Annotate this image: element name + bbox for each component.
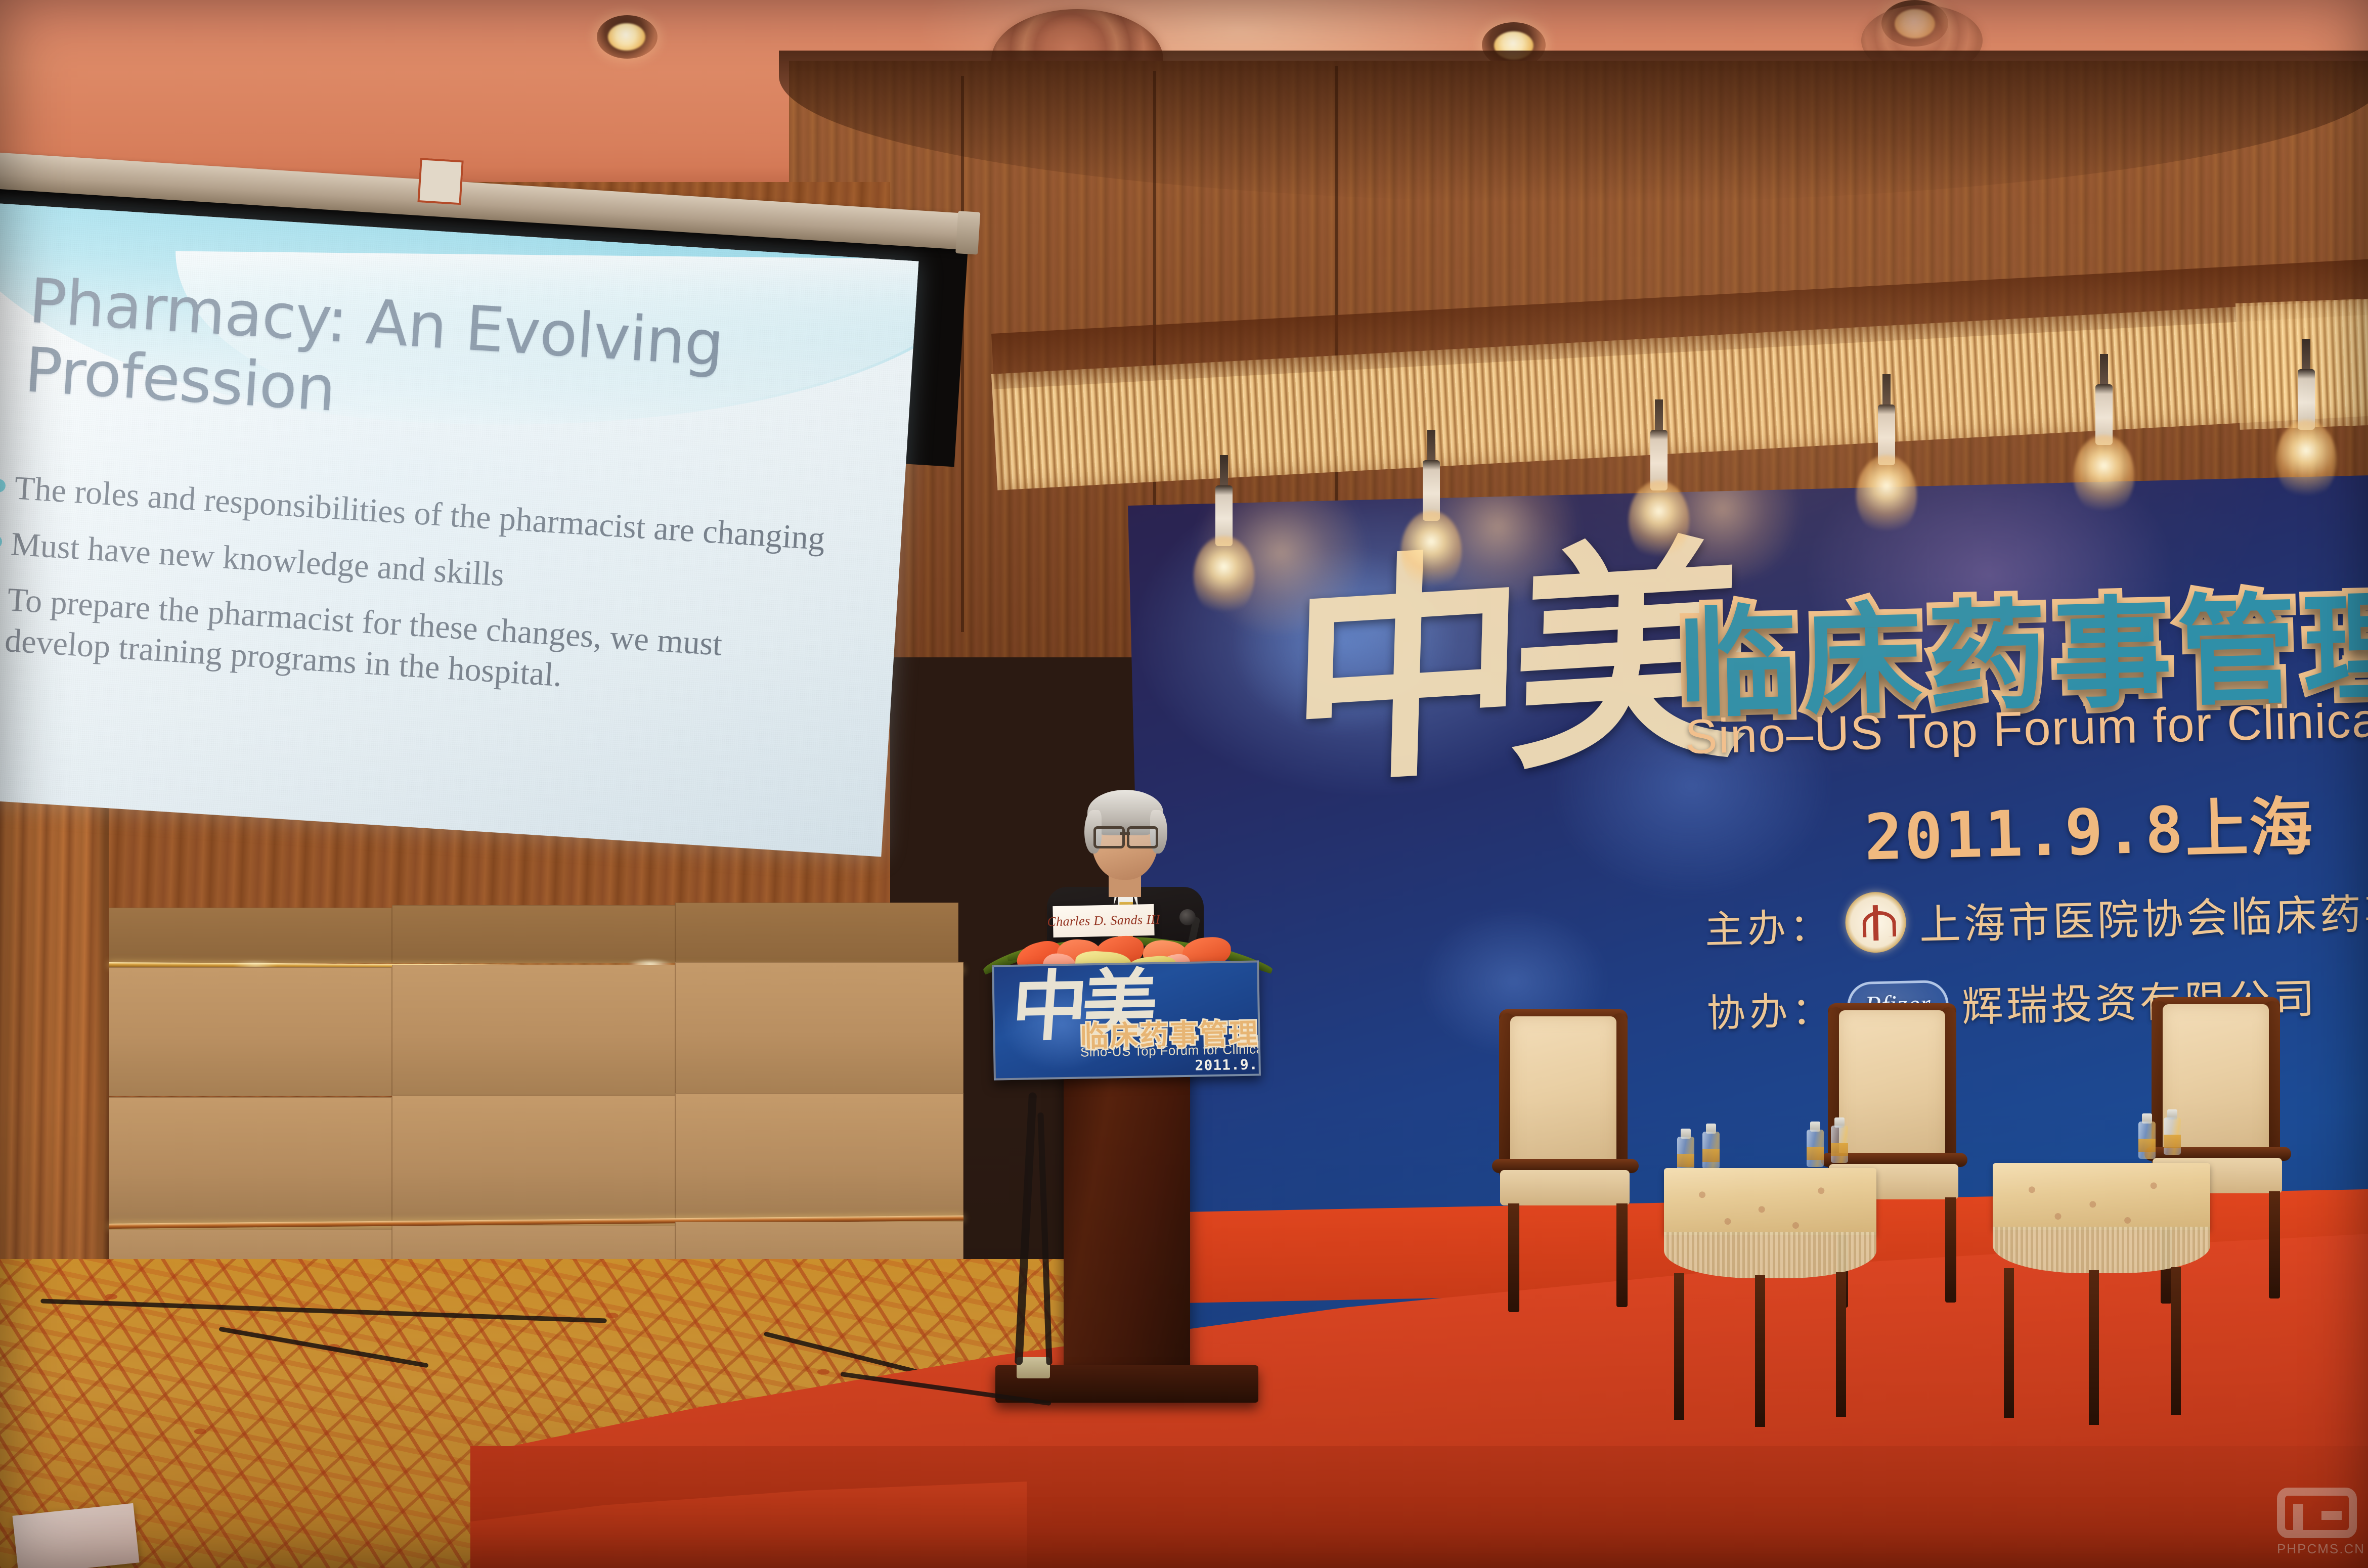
watermark-text: PHPCMS.CN bbox=[2277, 1541, 2357, 1557]
acoustic-panel bbox=[109, 1097, 392, 1234]
speaker-eyeglasses-right-lens bbox=[1127, 826, 1158, 848]
speaker-eyeglasses-left-lens bbox=[1093, 826, 1125, 848]
screen-warning-label bbox=[417, 158, 463, 205]
backdrop-date: 2011.9.8上海 bbox=[1863, 775, 2314, 878]
acoustic-panel bbox=[675, 1093, 963, 1233]
bullet-dot-icon bbox=[0, 534, 3, 549]
slide-bullet-list: The roles and responsibilities of the ph… bbox=[0, 467, 831, 727]
acoustic-panel bbox=[675, 903, 958, 963]
backdrop-calligraphy: 中美 bbox=[1286, 554, 1737, 775]
podium-forum-sign: 中美 临床药事管理高峰论坛 Sino-US Top Forum for Clin… bbox=[992, 960, 1261, 1080]
projection-screen: Pharmacy: An Evolving Profession The rol… bbox=[0, 202, 918, 857]
screen-housing-endcap bbox=[955, 211, 980, 255]
phpcms-logo-icon bbox=[2277, 1488, 2357, 1538]
backdrop-date-city: 上海 bbox=[2184, 790, 2314, 867]
wood-panel-seam bbox=[1335, 66, 1338, 561]
acoustic-panel bbox=[109, 908, 392, 963]
ceiling-downlight-icon bbox=[597, 15, 657, 59]
acoustic-panel bbox=[392, 905, 675, 963]
hospital-association-seal-icon bbox=[1845, 891, 1907, 954]
acoustic-panel bbox=[392, 1095, 675, 1233]
conference-photo-scene: Pharmacy: An Evolving Profession The rol… bbox=[0, 0, 2368, 1568]
speaker-eyeglasses-bridge bbox=[1120, 832, 1130, 835]
acoustic-panel bbox=[392, 965, 675, 1095]
wood-panel-seam bbox=[961, 76, 964, 632]
microphone-icon bbox=[1179, 909, 1196, 925]
stage-side-table bbox=[1993, 1163, 2210, 1284]
sponsor-label: 主办： bbox=[1704, 895, 1833, 954]
sponsor-name: 上海市医院协会临床药事管理专业委员会 bbox=[1918, 872, 2368, 952]
acoustic-panel bbox=[109, 967, 392, 1096]
acoustic-panel bbox=[675, 962, 963, 1095]
backdrop-date-number: 2011.9.8 bbox=[1864, 793, 2186, 874]
podium-sign-date: 2011.9.8 上海 bbox=[1195, 1053, 1261, 1075]
sponsor-label: 协办： bbox=[1706, 979, 1835, 1038]
watermark: PHPCMS.CN bbox=[2277, 1488, 2357, 1557]
stage-side-table bbox=[1664, 1168, 1876, 1289]
bullet-dot-icon bbox=[0, 479, 6, 493]
podium-column bbox=[1064, 1059, 1190, 1383]
